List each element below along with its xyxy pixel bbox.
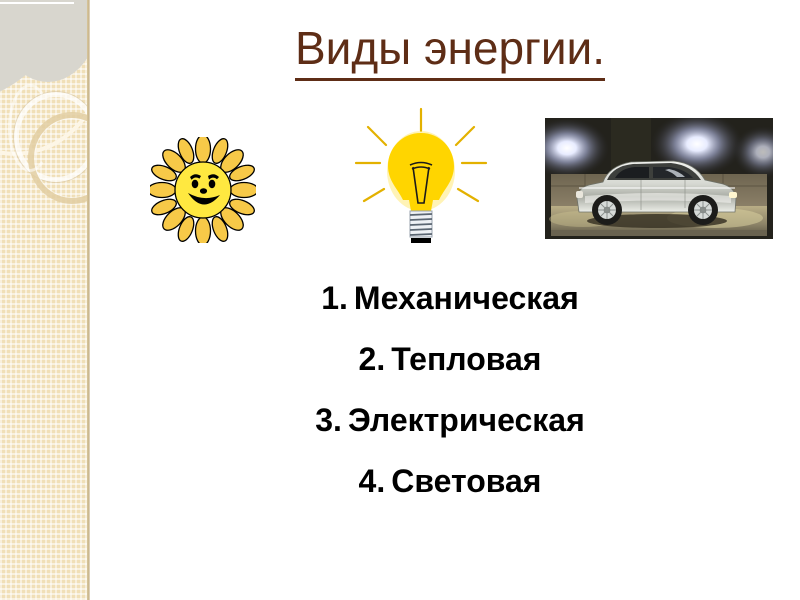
list-item-number: 1. — [321, 280, 348, 316]
list-item: 4.Световая — [120, 465, 780, 497]
illustration-row — [90, 105, 800, 255]
decorative-ring-small — [8, 84, 52, 172]
list-item: 1.Механическая — [120, 282, 780, 314]
list-item: 2.Тепловая — [120, 343, 780, 375]
side-band-edge — [87, 0, 90, 600]
page-title: Виды энергии. — [200, 22, 700, 81]
decorative-side-band — [0, 0, 90, 600]
page-title-text: Виды энергии. — [295, 22, 605, 81]
list-item-number: 4. — [359, 463, 386, 499]
energy-types-list: 1.Механическая 2.Тепловая 3.Электрическа… — [120, 282, 780, 497]
list-item-number: 3. — [315, 402, 342, 438]
light-bulb-icon — [346, 105, 496, 255]
list-item-number: 2. — [359, 341, 386, 377]
smiling-sun-icon — [150, 137, 256, 243]
slide-canvas: Виды энергии. — [0, 0, 800, 600]
list-item-label: Электрическая — [348, 402, 585, 438]
list-item-label: Световая — [391, 463, 541, 499]
list-item: 3.Электрическая — [120, 404, 780, 436]
list-item-label: Тепловая — [391, 341, 541, 377]
list-item-label: Механическая — [354, 280, 579, 316]
car-photo — [545, 118, 773, 239]
